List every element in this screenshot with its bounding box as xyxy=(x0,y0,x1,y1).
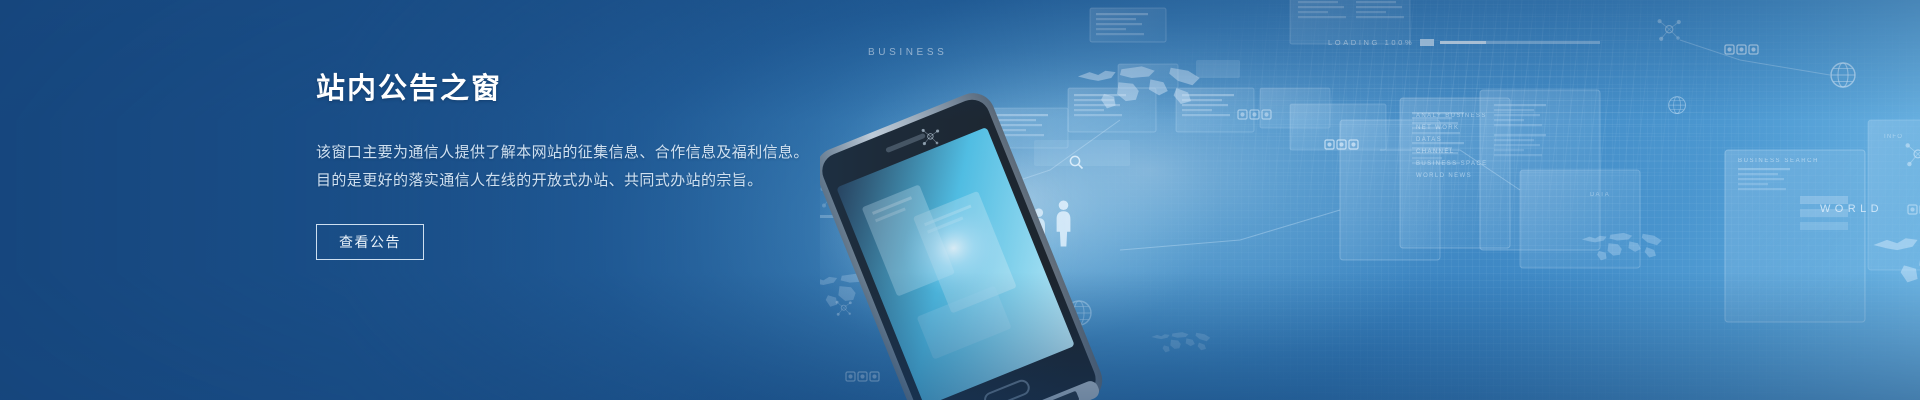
view-announcements-button[interactable]: 查看公告 xyxy=(316,224,424,260)
banner-description-line-1: 该窗口主要为通信人提供了解本网站的征集信息、合作信息及福利信息。 xyxy=(316,139,956,167)
banner-description-line-2: 目的是更好的落实通信人在线的开放式办站、共同式办站的宗旨。 xyxy=(316,167,956,195)
announcement-banner: BUSINESS LOADING 100% LOADING 100% NETWO… xyxy=(0,0,1920,400)
banner-vignette-overlay xyxy=(0,0,1920,400)
banner-description: 该窗口主要为通信人提供了解本网站的征集信息、合作信息及福利信息。 目的是更好的落… xyxy=(316,139,956,195)
page-title: 站内公告之窗 xyxy=(316,72,956,107)
banner-content: 站内公告之窗 该窗口主要为通信人提供了解本网站的征集信息、合作信息及福利信息。 … xyxy=(316,72,956,260)
